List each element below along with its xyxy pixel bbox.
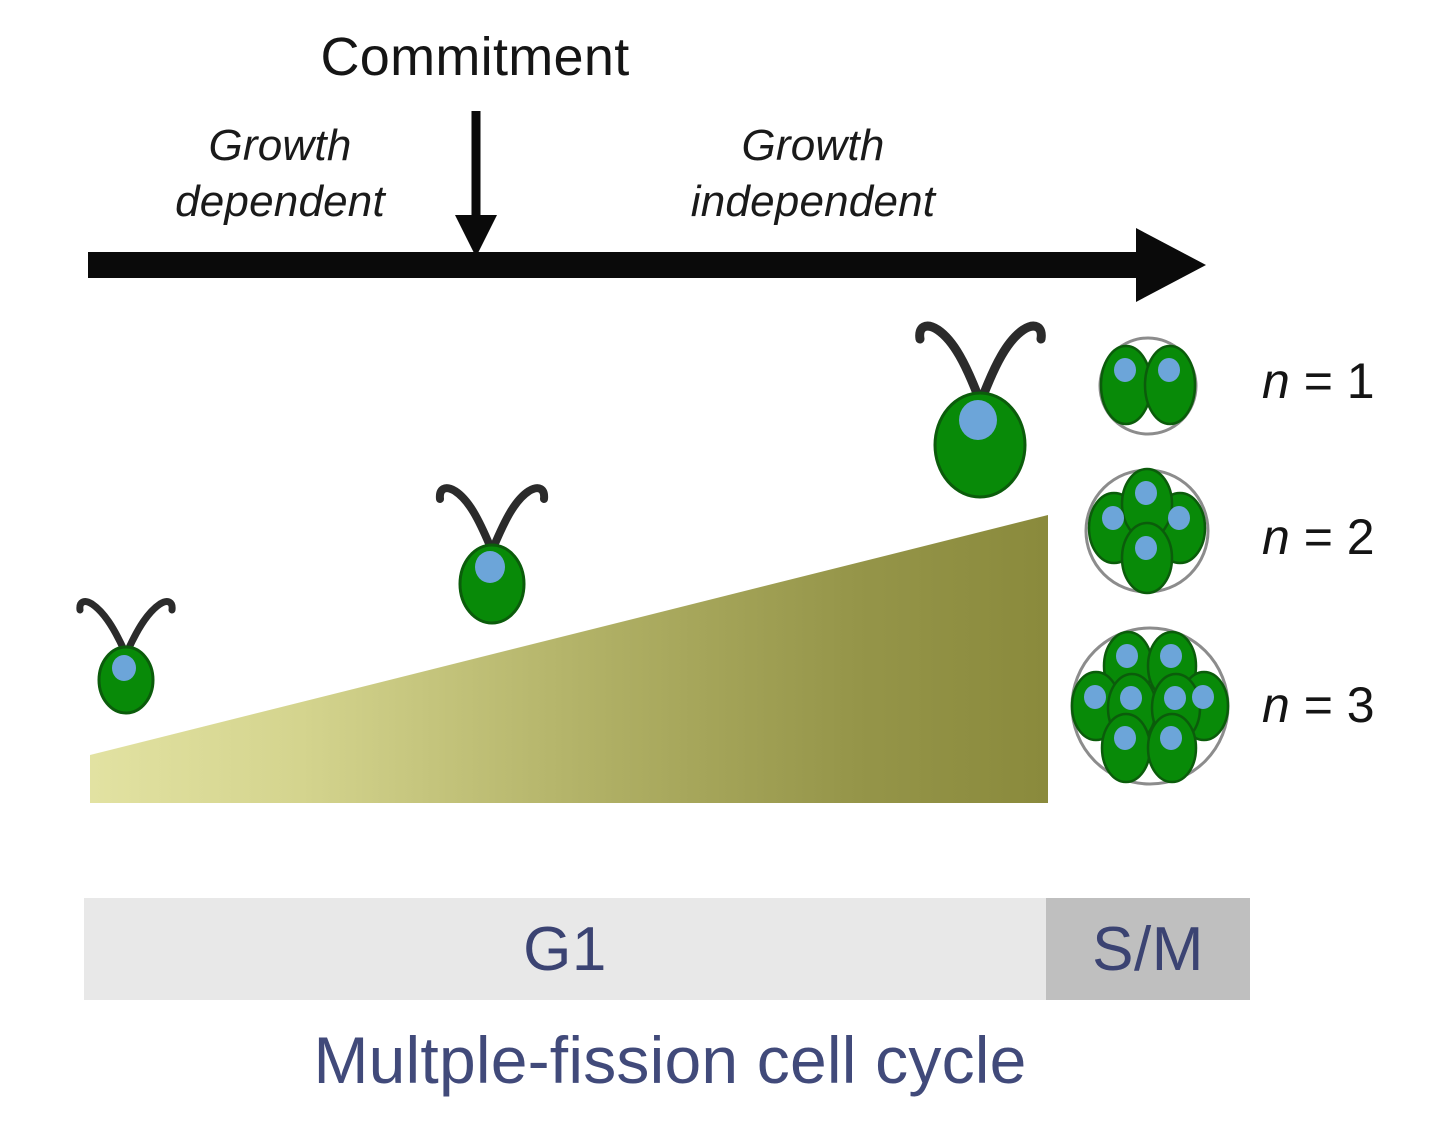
time-axis-arrow-icon <box>80 232 1230 302</box>
phase-segment-g1[interactable]: G1 <box>84 898 1046 1000</box>
mother-cell-late-g1 <box>898 303 1068 498</box>
division-product-n1 <box>1088 332 1208 440</box>
n-label-1: n = 1 <box>1262 352 1375 410</box>
growth-dependent-label: Growth dependent <box>120 118 440 231</box>
n-label-3: n = 3 <box>1262 676 1375 734</box>
figure-root: Commitment Growth dependent Growth indep… <box>0 0 1440 1123</box>
growth-gradient-wedge <box>88 505 1058 815</box>
n-symbol-3: n <box>1262 677 1290 733</box>
phase-bar: G1 S/M <box>84 898 1250 1000</box>
phase-label-sm: S/M <box>1092 914 1204 985</box>
phase-segment-sm[interactable]: S/M <box>1046 898 1250 1000</box>
mother-cell-mid-g1 <box>424 458 564 623</box>
n-symbol-1: n <box>1262 353 1290 409</box>
n-value-2: = 2 <box>1290 509 1375 565</box>
growth-independent-label: Growth independent <box>648 118 978 231</box>
n-value-3: = 3 <box>1290 677 1375 733</box>
n-label-2: n = 2 <box>1262 508 1375 566</box>
division-product-n2 <box>1074 466 1220 596</box>
commitment-label: Commitment <box>305 26 645 88</box>
phase-label-g1: G1 <box>523 914 607 985</box>
n-value-1: = 1 <box>1290 353 1375 409</box>
figure-caption: Multple-fission cell cycle <box>0 1022 1340 1098</box>
division-product-n3 <box>1066 624 1234 788</box>
mother-cell-early-g1 <box>62 572 192 712</box>
n-symbol-2: n <box>1262 509 1290 565</box>
